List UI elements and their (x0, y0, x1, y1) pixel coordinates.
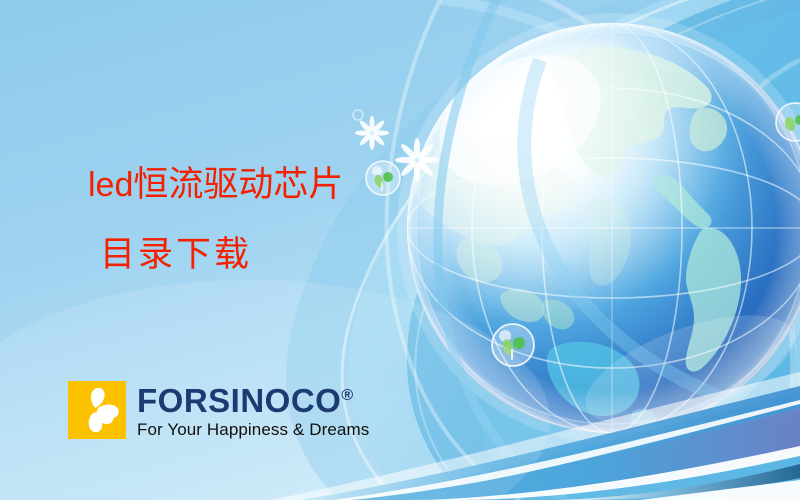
logo-tagline: For Your Happiness & Dreams (137, 420, 369, 439)
four-petal-pinwheel-icon (68, 381, 126, 439)
logo-mark (68, 381, 126, 439)
headline-line-1: led恒流驱动芯片 (88, 164, 343, 206)
registered-trademark-icon: ® (341, 387, 353, 404)
headline-line-1-latin: led (88, 166, 133, 204)
leaf-bubble (366, 161, 400, 195)
snowflake-decoration (395, 138, 439, 182)
headline-line-1-cjk: 恒流驱动芯片 (133, 165, 343, 205)
logo-brand-word: FORSINOCO (137, 382, 341, 419)
snowflake-decoration (355, 116, 389, 150)
headline-block: led恒流驱动芯片 目录下载 (88, 164, 343, 276)
logo-text-block: FORSINOCO® For Your Happiness & Dreams (137, 381, 369, 439)
company-logo: FORSINOCO® For Your Happiness & Dreams (68, 381, 369, 439)
logo-brand-name: FORSINOCO® (137, 384, 369, 417)
headline-line-2: 目录下载 (100, 234, 343, 276)
slide-canvas: led恒流驱动芯片 目录下载 FORSINOCO® For Your Happi… (0, 0, 800, 500)
